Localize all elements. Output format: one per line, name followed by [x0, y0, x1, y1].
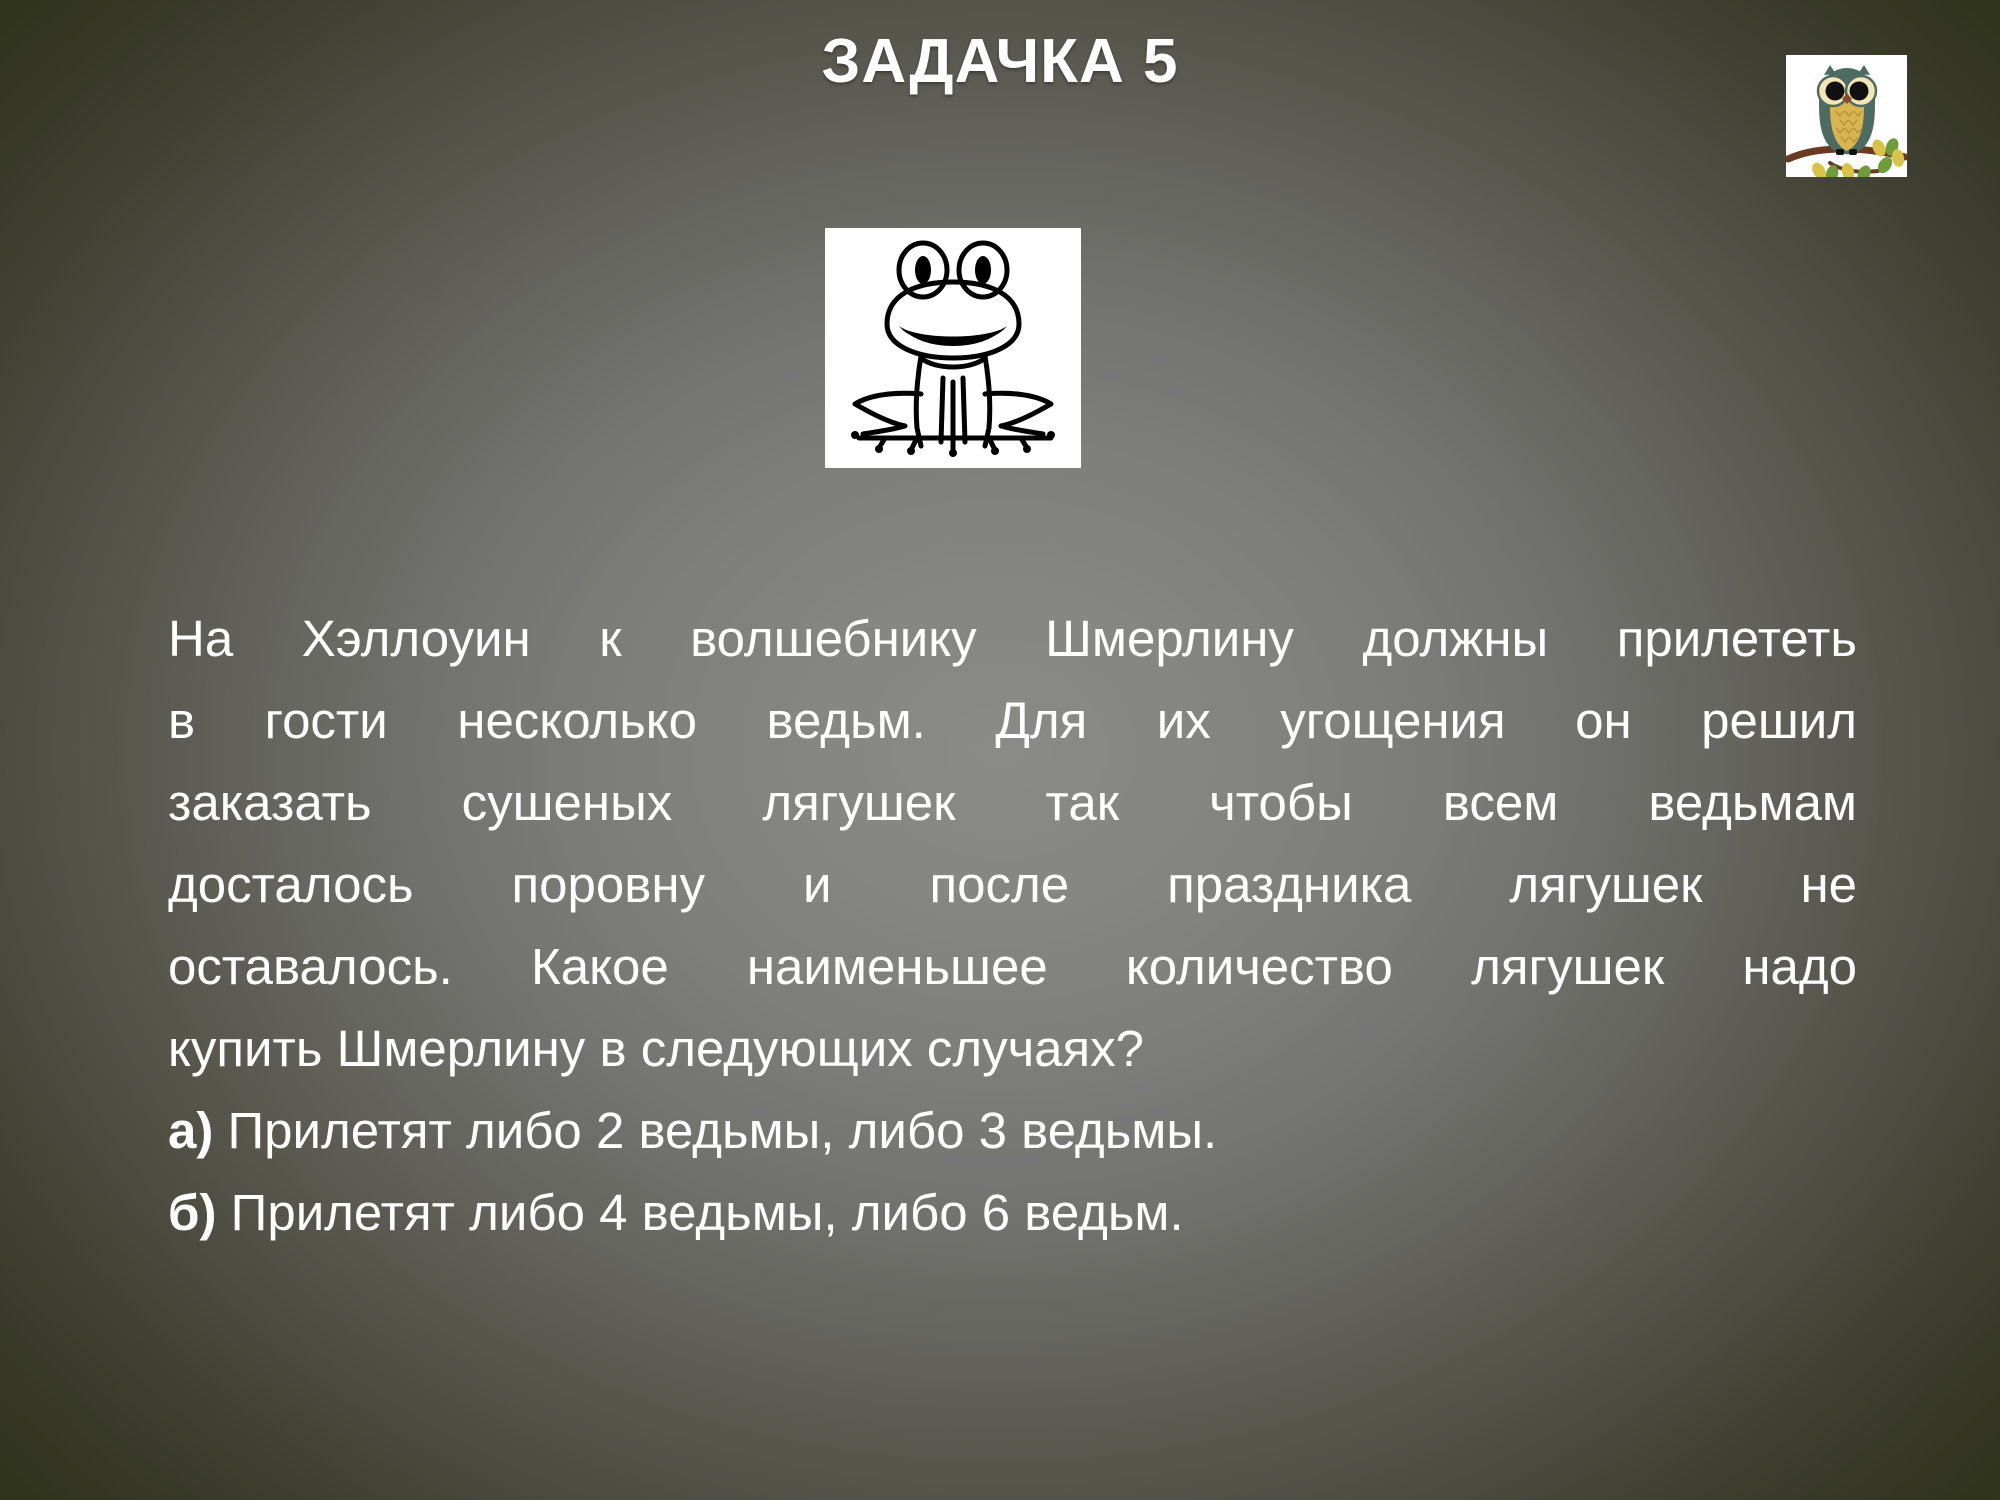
problem-line-3: заказать сушеных лягушек так чтобы всем …: [168, 762, 1857, 844]
problem-line-2: в гости несколько ведьм. Для их угощения…: [168, 680, 1857, 762]
option-b-label: б): [168, 1184, 217, 1241]
owl-logo: [1786, 55, 1907, 177]
problem-option-b: б) Прилетят либо 4 ведьмы, либо 6 ведьм.: [168, 1172, 1857, 1254]
problem-line-4: досталось поровну и после праздника лягу…: [168, 844, 1857, 926]
problem-line-5: оставалось. Какое наименьшее количество …: [168, 926, 1857, 1008]
page-title: ЗАДАЧКА 5: [0, 28, 2000, 96]
owl-icon: [1786, 55, 1907, 177]
problem-line-1: На Хэллоуин к волшебнику Шмерлину должны…: [168, 598, 1857, 680]
presentation-slide: ЗАДАЧКА 5: [0, 0, 2000, 1500]
frog-illustration: [825, 228, 1081, 468]
option-a-text: Прилетят либо 2 ведьмы, либо 3 ведьмы.: [213, 1102, 1217, 1159]
problem-line-6: купить Шмерлину в следующих случаях?: [168, 1008, 1857, 1090]
option-a-label: а): [168, 1102, 213, 1159]
problem-option-a: а) Прилетят либо 2 ведьмы, либо 3 ведьмы…: [168, 1090, 1857, 1172]
option-b-text: Прилетят либо 4 ведьмы, либо 6 ведьм.: [217, 1184, 1184, 1241]
problem-text-block: На Хэллоуин к волшебнику Шмерлину должны…: [168, 598, 1857, 1254]
frog-icon: [825, 228, 1081, 468]
